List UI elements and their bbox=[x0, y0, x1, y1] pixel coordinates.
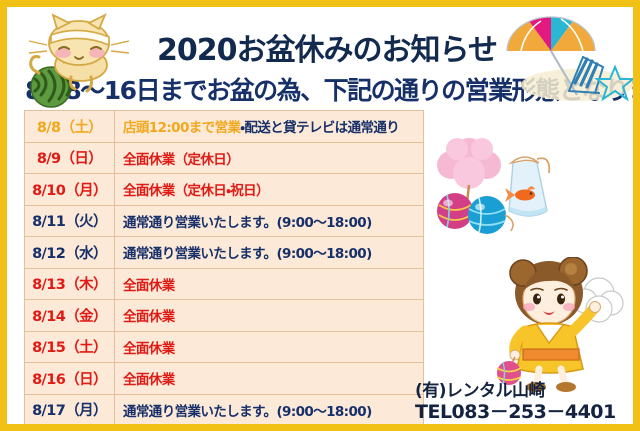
schedule-date: 8/9（日） bbox=[25, 142, 115, 174]
company-name: (有)レンタル山崎 bbox=[415, 382, 635, 402]
schedule-note: 全面休業 bbox=[115, 268, 424, 300]
table-row: 8/12（水） 通常通り営業いたします。(9:00～18:00) bbox=[25, 237, 424, 269]
table-row: 8/15（土） 全面休業 bbox=[25, 331, 424, 363]
schedule-date: 8/14（金） bbox=[25, 300, 115, 332]
schedule-note: 通常通り営業いたします。(9:00～18:00) bbox=[115, 394, 424, 426]
table-row: 8/11（火） 通常通り営業いたします。(9:00～18:00) bbox=[25, 205, 424, 237]
cat-mascot-icon bbox=[21, 11, 141, 109]
table-row: 8/13（木） 全面休業 bbox=[25, 268, 424, 300]
schedule-note: 全面休業 bbox=[115, 331, 424, 363]
festival-treats-icon bbox=[425, 129, 605, 247]
beach-parasol-icon bbox=[499, 11, 640, 103]
schedule-date: 8/13（木） bbox=[25, 268, 115, 300]
telephone-number: TEL083－253－4401 bbox=[415, 402, 635, 424]
schedule-date: 8/12（水） bbox=[25, 237, 115, 269]
page-title: 2020お盆休みのお知らせ bbox=[157, 25, 497, 69]
schedule-note: 全面休業 bbox=[115, 300, 424, 332]
schedule-body: 8/8（土） 店頭12:00まで営業・配送と貸テレビは通常通り 8/9（日） 全… bbox=[25, 111, 424, 426]
table-row: 8/16（日） 全面休業 bbox=[25, 363, 424, 395]
yukata-girl-icon bbox=[487, 257, 637, 395]
schedule-date: 8/11（火） bbox=[25, 205, 115, 237]
table-row: 8/9（日） 全面休業（定休日） bbox=[25, 142, 424, 174]
schedule-note-extra: ・配送と貸テレビは通常通り bbox=[240, 120, 399, 136]
schedule-date: 8/17（月） bbox=[25, 394, 115, 426]
table-row: 8/10（月） 全面休業（定休日・祝日） bbox=[25, 174, 424, 206]
schedule-note: 全面休業 bbox=[115, 363, 424, 395]
schedule-note: 通常通り営業いたします。(9:00～18:00) bbox=[115, 237, 424, 269]
schedule-note: 店頭12:00まで営業・配送と貸テレビは通常通り bbox=[115, 111, 424, 143]
table-row: 8/8（土） 店頭12:00まで営業・配送と貸テレビは通常通り bbox=[25, 111, 424, 143]
schedule-date: 8/15（土） bbox=[25, 331, 115, 363]
schedule-note: 全面休業（定休日・祝日） bbox=[115, 174, 424, 206]
schedule-date: 8/10（月） bbox=[25, 174, 115, 206]
table-row: 8/17（月） 通常通り営業いたします。(9:00～18:00) bbox=[25, 394, 424, 426]
schedule-note: 全面休業（定休日） bbox=[115, 142, 424, 174]
schedule-note-main: 店頭12:00まで営業 bbox=[123, 120, 240, 136]
schedule-date: 8/16（日） bbox=[25, 363, 115, 395]
table-row: 8/14（金） 全面休業 bbox=[25, 300, 424, 332]
schedule-note: 通常通り営業いたします。(9:00～18:00) bbox=[115, 205, 424, 237]
schedule-date: 8/8（土） bbox=[25, 111, 115, 143]
contact-block: (有)レンタル山崎 TEL083－253－4401 bbox=[415, 382, 635, 423]
holiday-notice-poster: 2020お盆休みのお知らせ 8月8～16日までお盆の為、下記の通りの営業形態とな… bbox=[0, 0, 640, 431]
holiday-schedule-table: 8/8（土） 店頭12:00まで営業・配送と貸テレビは通常通り 8/9（日） 全… bbox=[24, 110, 424, 426]
